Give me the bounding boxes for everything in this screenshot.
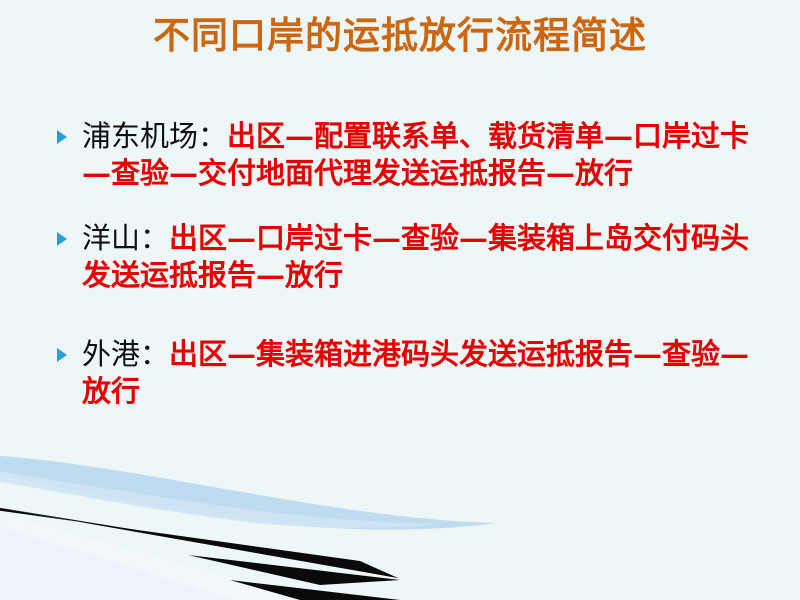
- bullet-label: 浦东机场：: [82, 119, 227, 153]
- bullet-flow-text: 出区—集装箱进港码头发送运抵报告—查验—放行: [82, 337, 749, 408]
- black-wedge-upper: [0, 507, 398, 578]
- blue-swoosh-shape-secondary: [0, 470, 440, 528]
- bullet-item-pudong-airport: 浦东机场：出区—配置联系单、载货清单—口岸过卡—查验—交付地面代理发送运抵报告—…: [56, 118, 756, 192]
- black-wedge-upper-body: [0, 507, 398, 578]
- bullet-item-yangshan: 洋山：出区—口岸过卡—查验—集装箱上岛交付码头发送运抵报告—放行: [56, 220, 756, 294]
- corner-texture-triangle-shade: [0, 525, 250, 600]
- bullet-list: 浦东机场：出区—配置联系单、载货清单—口岸过卡—查验—交付地面代理发送运抵报告—…: [56, 118, 756, 410]
- bullet-text: 洋山：出区—口岸过卡—查验—集装箱上岛交付码头发送运抵报告—放行: [82, 220, 756, 294]
- slide-title: 不同口岸的运抵放行流程简述: [0, 14, 800, 58]
- corner-texture-triangle: [0, 512, 330, 600]
- triangle-bullet-icon: [57, 130, 67, 144]
- bullet-text: 浦东机场：出区—配置联系单、载货清单—口岸过卡—查验—交付地面代理发送运抵报告—…: [82, 118, 756, 192]
- triangle-bullet-icon: [57, 232, 67, 246]
- bullet-item-waigang: 外港：出区—集装箱进港码头发送运抵报告—查验—放行: [56, 336, 756, 410]
- bullet-label: 外港：: [82, 337, 169, 371]
- black-wedge-lower-tail: [230, 580, 400, 600]
- bullet-flow-text: 出区—口岸过卡—查验—集装箱上岛交付码头发送运抵报告—放行: [82, 221, 749, 292]
- slide-canvas: 不同口岸的运抵放行流程简述 浦东机场：出区—配置联系单、载货清单—口岸过卡—查验…: [0, 0, 800, 600]
- bullet-label: 洋山：: [82, 221, 169, 255]
- blue-swoosh-shape: [0, 455, 496, 530]
- black-wedge-lower: [188, 555, 400, 585]
- bullet-text: 外港：出区—集装箱进港码头发送运抵报告—查验—放行: [82, 336, 756, 410]
- triangle-bullet-icon: [57, 348, 67, 362]
